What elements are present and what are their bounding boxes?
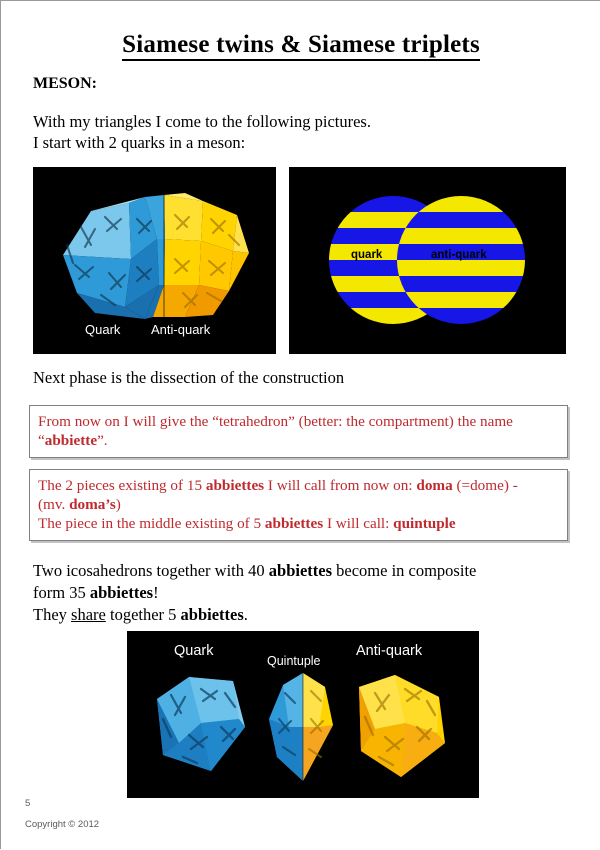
closing-line2-a: form 35: [33, 583, 90, 602]
next-phase-line: Next phase is the dissection of the cons…: [33, 368, 344, 388]
page-content: Siamese twins & Siamese triplets MESON: …: [1, 1, 600, 850]
callout1-term-abbiette: abbiette: [45, 432, 97, 449]
document-page: Siamese twins & Siamese triplets MESON: …: [0, 0, 600, 849]
callout2-line2-b: ): [116, 496, 121, 513]
callout2-term-domas: doma’s: [69, 496, 116, 513]
callout1-quote-close: ”.: [97, 432, 108, 449]
photo-label-quark: Quark: [174, 643, 214, 659]
closing-line3-b: together 5: [106, 605, 181, 624]
page-title-text: Siamese twins & Siamese triplets: [122, 31, 480, 61]
callout2-line3-b: I will call:: [323, 515, 393, 532]
diagram-label-antiquark: anti-quark: [431, 249, 487, 261]
closing-term-abbiettes-3: abbiettes: [181, 605, 244, 624]
closing-line3-a: They: [33, 605, 71, 624]
closing-line-2: form 35 abbiettes!: [33, 582, 553, 604]
footer-page-number: 5: [25, 798, 30, 809]
callout2-term-doma: doma: [416, 477, 452, 494]
intro-line-1: With my triangles I come to the followin…: [33, 111, 553, 132]
closing-term-abbiettes-1: abbiettes: [269, 561, 332, 580]
closing-line1-a: Two icosahedrons together with 40: [33, 561, 269, 580]
dissection-photo: Quark Quintuple Anti-quark: [127, 631, 479, 798]
closing-line3-c: .: [244, 605, 248, 624]
closing-line2-b: !: [153, 583, 159, 602]
closing-term-abbiettes-2: abbiettes: [90, 583, 153, 602]
callout2-line1-a: The 2 pieces existing of 15: [38, 477, 206, 494]
callout2-term-abbiettes-2: abbiettes: [265, 515, 323, 532]
meson-photo-3d: Quark Anti-quark: [33, 167, 276, 354]
closing-line-1: Two icosahedrons together with 40 abbiet…: [33, 560, 553, 582]
diagram-label-quark: quark: [351, 249, 382, 261]
callout-doma-quintuple-definition: The 2 pieces existing of 15 abbiettes I …: [29, 469, 568, 541]
footer-copyright: Copyright © 2012: [25, 819, 99, 830]
closing-line-3: They share together 5 abbiettes.: [33, 604, 553, 626]
callout2-term-abbiettes-1: abbiettes: [206, 477, 264, 494]
closing-word-share: share: [71, 605, 106, 624]
intro-line-2: I start with 2 quarks in a meson:: [33, 132, 553, 153]
page-title: Siamese twins & Siamese triplets: [1, 31, 600, 59]
callout2-line1-b: I will call from now on:: [264, 477, 416, 494]
meson-diagram-flat: quark anti-quark: [289, 167, 566, 354]
intro-paragraph: With my triangles I come to the followin…: [33, 111, 553, 153]
callout2-line1-c: (=dome) -: [453, 477, 518, 494]
callout2-line2-a: (mv.: [38, 496, 69, 513]
closing-line1-b: become in composite: [332, 561, 476, 580]
photo-label-quark: Quark: [85, 322, 120, 337]
striped-circles-illustration: [289, 167, 566, 354]
photo-label-antiquark: Anti-quark: [356, 643, 422, 659]
callout1-quote-open: “: [38, 432, 45, 449]
closing-paragraph: Two icosahedrons together with 40 abbiet…: [33, 560, 553, 626]
section-heading-meson: MESON:: [33, 75, 97, 93]
callout2-line3-a: The piece in the middle existing of 5: [38, 515, 265, 532]
photo-label-quintuple: Quintuple: [267, 654, 321, 668]
photo-label-antiquark: Anti-quark: [151, 322, 210, 337]
callout2-term-quintuple: quintuple: [393, 515, 455, 532]
callout-abbiette-definition: From now on I will give the “tetrahedron…: [29, 405, 568, 458]
callout1-line1: From now on I will give the “tetrahedron…: [38, 413, 513, 430]
